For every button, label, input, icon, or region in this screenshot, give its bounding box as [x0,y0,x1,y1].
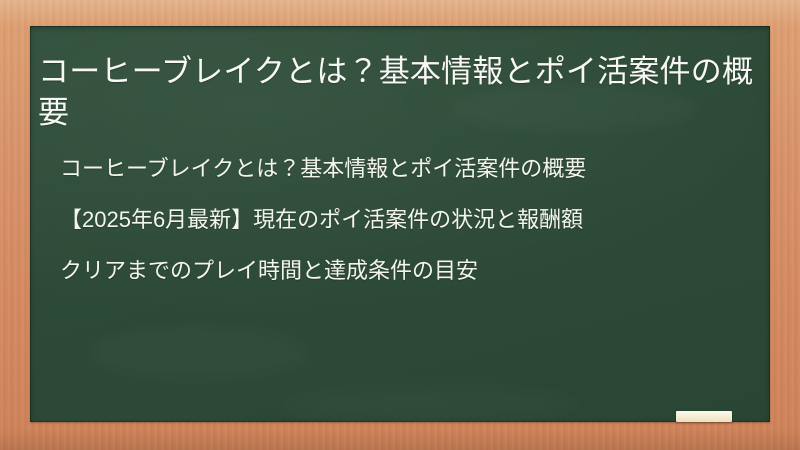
chalk-smudge [280,386,580,422]
chalk-eraser-icon [676,411,732,422]
page-title: コーヒーブレイクとは？基本情報とポイ活案件の概要 [38,51,754,133]
list-item[interactable]: コーヒーブレイクとは？基本情報とポイ活案件の概要 [38,154,768,185]
list-item[interactable]: 【2025年6月最新】現在のポイ活案件の状況と報酬額 [38,205,768,236]
list-item[interactable]: クリアまでのプレイ時間と達成条件の目安 [38,256,768,287]
table-of-contents: コーヒーブレイクとは？基本情報とポイ活案件の概要 【2025年6月最新】現在のポ… [38,154,768,286]
chalkboard: コーヒーブレイクとは？基本情報とポイ活案件の概要 コーヒーブレイクとは？基本情報… [30,26,770,422]
title-card: コーヒーブレイクとは？基本情報とポイ活案件の概要 コーヒーブレイクとは？基本情報… [0,0,800,450]
list-item-label: コーヒーブレイクとは？基本情報とポイ活案件の概要 [60,156,586,181]
list-item-label: 【2025年6月最新】現在のポイ活案件の状況と報酬額 [60,207,583,232]
chalk-smudge [90,326,310,380]
list-item-label: クリアまでのプレイ時間と達成条件の目安 [60,258,478,283]
